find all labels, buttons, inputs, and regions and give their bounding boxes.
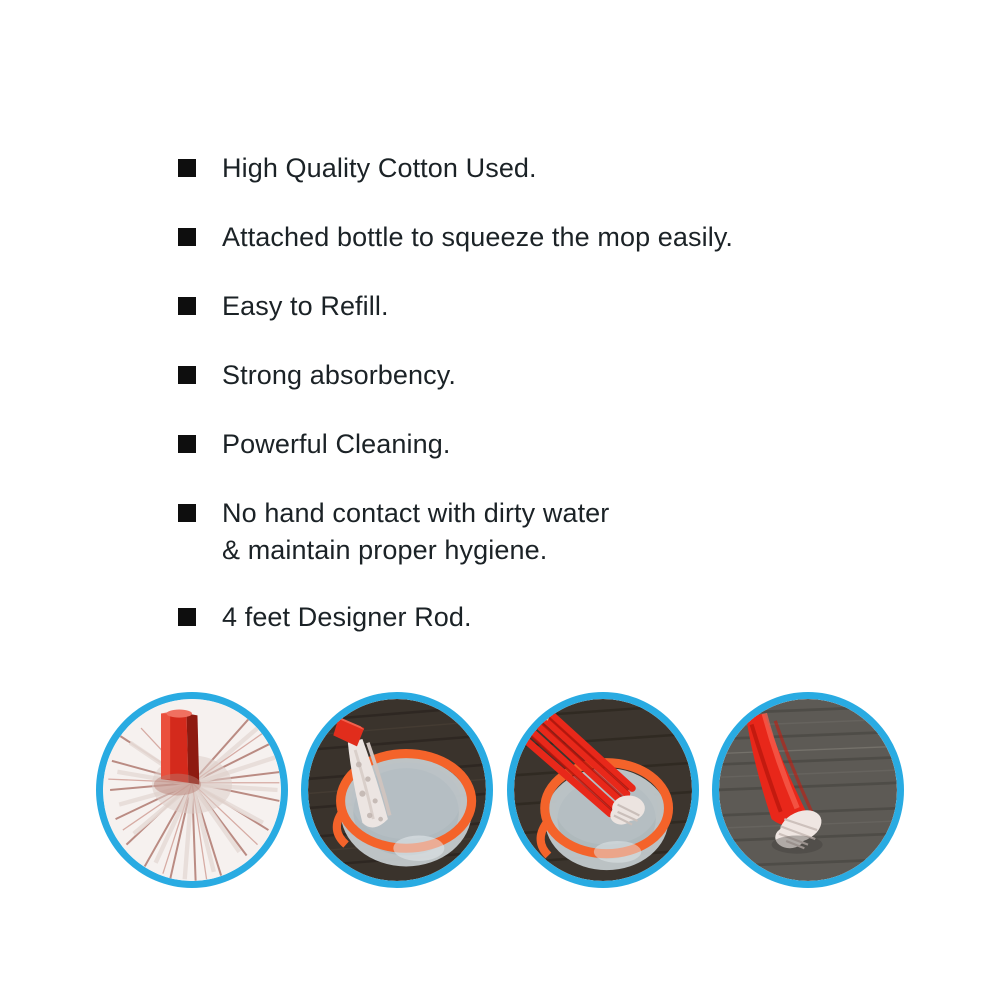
product-photo-mop-on-floor	[712, 692, 904, 888]
feature-text-wrap: Powerful Cleaning.	[222, 426, 450, 463]
bullet-square-icon	[178, 608, 196, 626]
feature-text-wrap: Strong absorbency.	[222, 357, 456, 394]
product-photo-mop-in-bucket	[301, 692, 493, 888]
feature-text: Powerful Cleaning.	[222, 426, 450, 463]
product-feature-image: High Quality Cotton Used. Attached bottl…	[0, 0, 1000, 1000]
product-photo-red-mop-over-bucket	[507, 692, 699, 888]
list-item: 4 feet Designer Rod.	[178, 599, 918, 636]
photo-inner	[308, 699, 486, 881]
list-item: Powerful Cleaning.	[178, 426, 918, 463]
feature-text: Easy to Refill.	[222, 288, 389, 325]
feature-text-continuation: & maintain proper hygiene.	[222, 532, 609, 569]
photo-inner	[719, 699, 897, 881]
product-photo-mop-head	[96, 692, 288, 888]
feature-text-wrap: No hand contact with dirty water & maint…	[222, 495, 609, 569]
photo-inner	[103, 699, 281, 881]
feature-text-wrap: Easy to Refill.	[222, 288, 389, 325]
feature-text: No hand contact with dirty water	[222, 495, 609, 532]
bullet-square-icon	[178, 504, 196, 522]
bullet-square-icon	[178, 435, 196, 453]
mop-on-floor-illustration	[719, 699, 897, 881]
feature-text: Strong absorbency.	[222, 357, 456, 394]
bullet-square-icon	[178, 159, 196, 177]
feature-text-wrap: 4 feet Designer Rod.	[222, 599, 472, 636]
feature-text: Attached bottle to squeeze the mop easil…	[222, 219, 733, 256]
feature-text: 4 feet Designer Rod.	[222, 599, 472, 636]
mop-in-bucket-illustration	[308, 699, 486, 881]
bullet-square-icon	[178, 228, 196, 246]
list-item: Strong absorbency.	[178, 357, 918, 394]
product-photo-strip	[96, 690, 904, 890]
feature-text: High Quality Cotton Used.	[222, 150, 537, 187]
feature-text-wrap: Attached bottle to squeeze the mop easil…	[222, 219, 733, 256]
red-mop-over-bucket-illustration	[514, 699, 692, 881]
list-item: No hand contact with dirty water & maint…	[178, 495, 918, 569]
bullet-square-icon	[178, 297, 196, 315]
feature-list: High Quality Cotton Used. Attached bottl…	[178, 150, 918, 668]
mop-head-closeup-illustration	[103, 699, 281, 881]
list-item: Easy to Refill.	[178, 288, 918, 325]
list-item: High Quality Cotton Used.	[178, 150, 918, 187]
feature-text-wrap: High Quality Cotton Used.	[222, 150, 537, 187]
list-item: Attached bottle to squeeze the mop easil…	[178, 219, 918, 256]
photo-inner	[514, 699, 692, 881]
bullet-square-icon	[178, 366, 196, 384]
